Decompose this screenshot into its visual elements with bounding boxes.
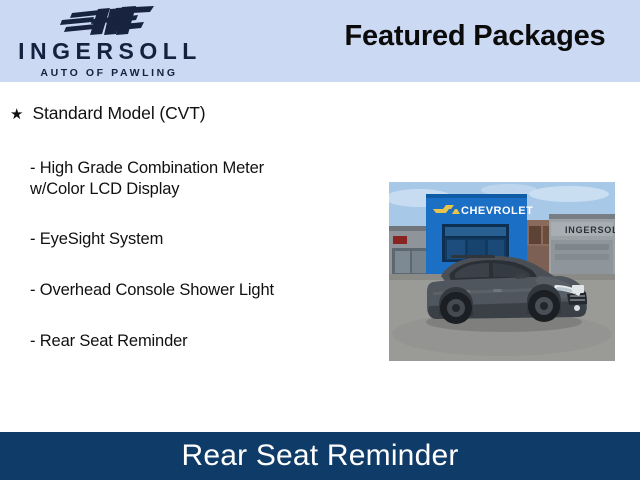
- page-title: Featured Packages: [325, 20, 625, 53]
- header-band: INGERSOLL AUTO OF PAWLING Featured Packa…: [0, 0, 640, 82]
- feature-item: - EyeSight System: [30, 229, 360, 250]
- brand-tagline: AUTO OF PAWLING: [0, 68, 215, 79]
- brand-name: INGERSOLL: [0, 40, 215, 63]
- ingersoll-wing-emblem-icon: [52, 4, 164, 38]
- feature-item: - Overhead Console Shower Light: [30, 280, 360, 301]
- feature-item: - Rear Seat Reminder: [30, 331, 360, 352]
- star-bullet-icon: ★: [10, 107, 23, 122]
- svg-text:INGERSOL: INGERSOL: [565, 225, 615, 235]
- standard-model-bullet: ★ Standard Model (CVT): [10, 103, 206, 124]
- footer-title: Rear Seat Reminder: [181, 439, 458, 473]
- feature-item: - High Grade Combination Meter w/Color L…: [30, 158, 360, 199]
- svg-text:CHEVROLET: CHEVROLET: [461, 205, 533, 217]
- feature-list: - High Grade Combination Meter w/Color L…: [30, 158, 360, 351]
- feature-line-1: - High Grade Combination Meter: [30, 159, 264, 177]
- vehicle-photo: CHEVROLET INGERSOL: [389, 182, 615, 361]
- standard-model-label: Standard Model (CVT): [32, 103, 205, 124]
- footer-banner: Rear Seat Reminder: [0, 432, 640, 480]
- content-area: ★ Standard Model (CVT) - High Grade Comb…: [0, 82, 640, 432]
- brand-logo-block: INGERSOLL AUTO OF PAWLING: [0, 2, 215, 82]
- vehicle-photo-image: CHEVROLET INGERSOL: [389, 182, 615, 361]
- feature-line-2: w/Color LCD Display: [30, 180, 179, 198]
